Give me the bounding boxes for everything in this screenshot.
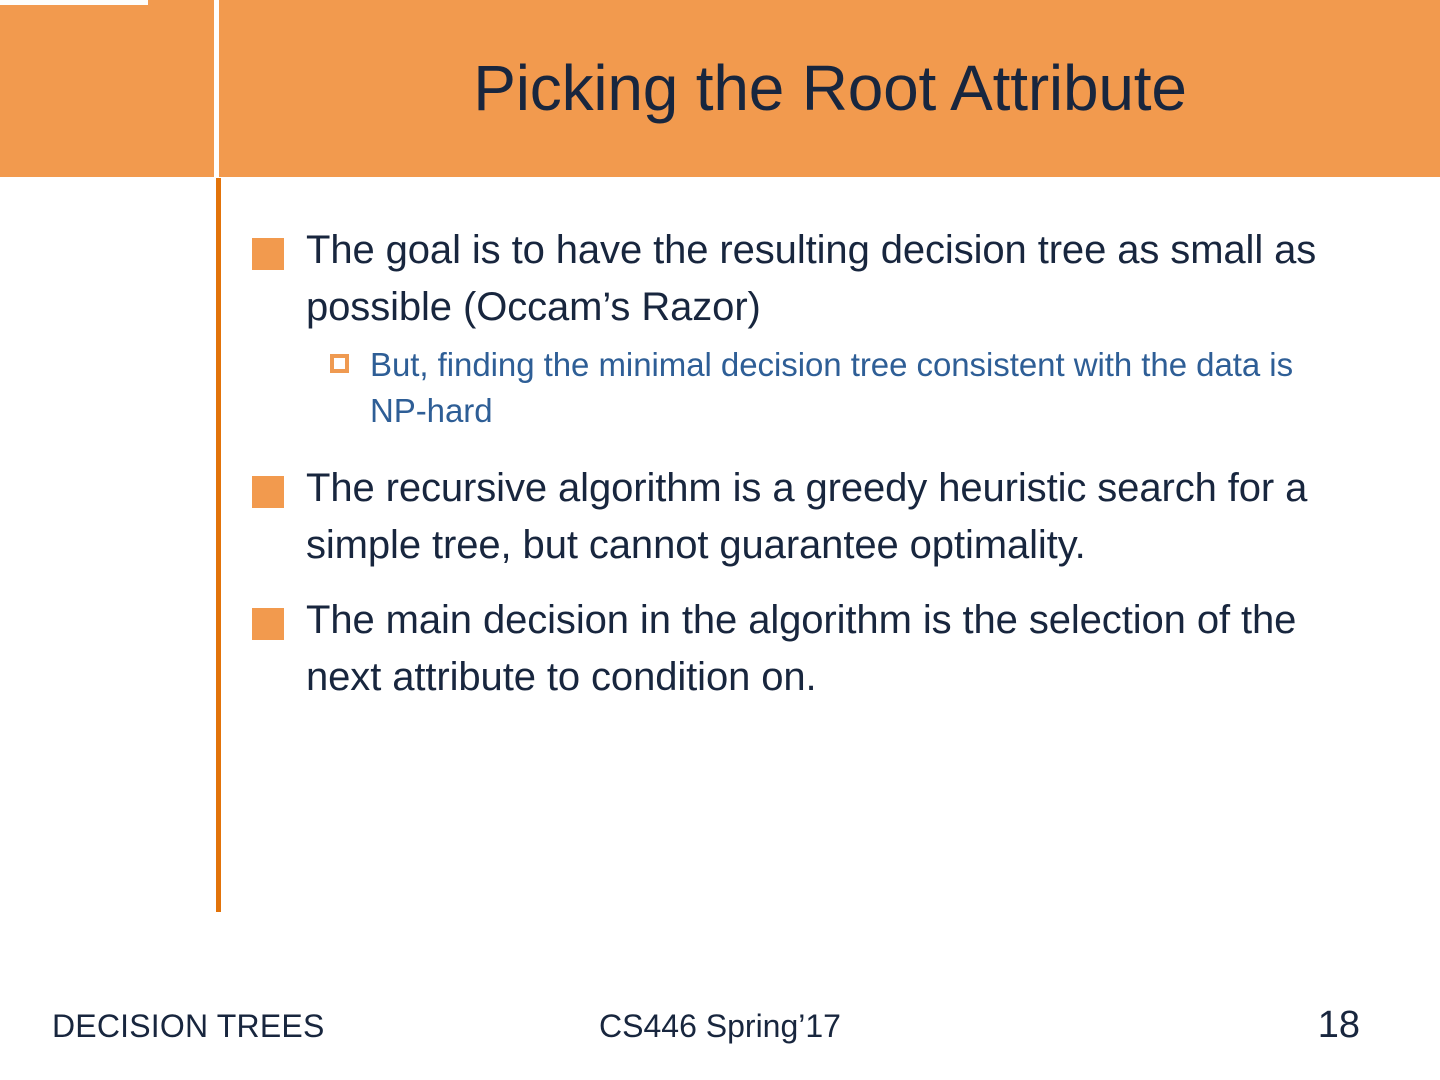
filled-square-bullet-icon bbox=[252, 476, 284, 508]
bullet-item: The main decision in the algorithm is th… bbox=[252, 592, 1382, 706]
footer-course-label: CS446 Spring’17 bbox=[0, 1008, 1440, 1045]
bullet-spacer bbox=[252, 580, 1382, 592]
bullet-item: The recursive algorithm is a greedy heur… bbox=[252, 460, 1382, 574]
filled-square-bullet-icon bbox=[252, 238, 284, 270]
slide-header-band: Picking the Root Attribute bbox=[0, 0, 1440, 177]
page-title: Picking the Root Attribute bbox=[220, 0, 1440, 177]
slide: Picking the Root Attribute The goal is t… bbox=[0, 0, 1440, 1080]
sub-bullet-item: But, finding the minimal decision tree c… bbox=[330, 342, 1382, 434]
sub-bullet-text: But, finding the minimal decision tree c… bbox=[370, 342, 1330, 434]
footer-page-number: 18 bbox=[1318, 1004, 1360, 1047]
hollow-square-bullet-icon bbox=[330, 354, 349, 373]
bullet-text: The main decision in the algorithm is th… bbox=[306, 592, 1382, 706]
bullet-item: The goal is to have the resulting decisi… bbox=[252, 222, 1382, 336]
slide-footer: DECISION TREES CS446 Spring’17 18 bbox=[0, 1000, 1440, 1062]
header-vertical-divider bbox=[214, 0, 219, 177]
filled-square-bullet-icon bbox=[252, 608, 284, 640]
slide-content: The goal is to have the resulting decisi… bbox=[252, 222, 1382, 712]
body-vertical-rule bbox=[216, 178, 221, 912]
bullet-text: The recursive algorithm is a greedy heur… bbox=[306, 460, 1382, 574]
bullet-spacer bbox=[252, 446, 1382, 460]
header-top-notch bbox=[0, 0, 148, 5]
bullet-text: The goal is to have the resulting decisi… bbox=[306, 222, 1382, 336]
